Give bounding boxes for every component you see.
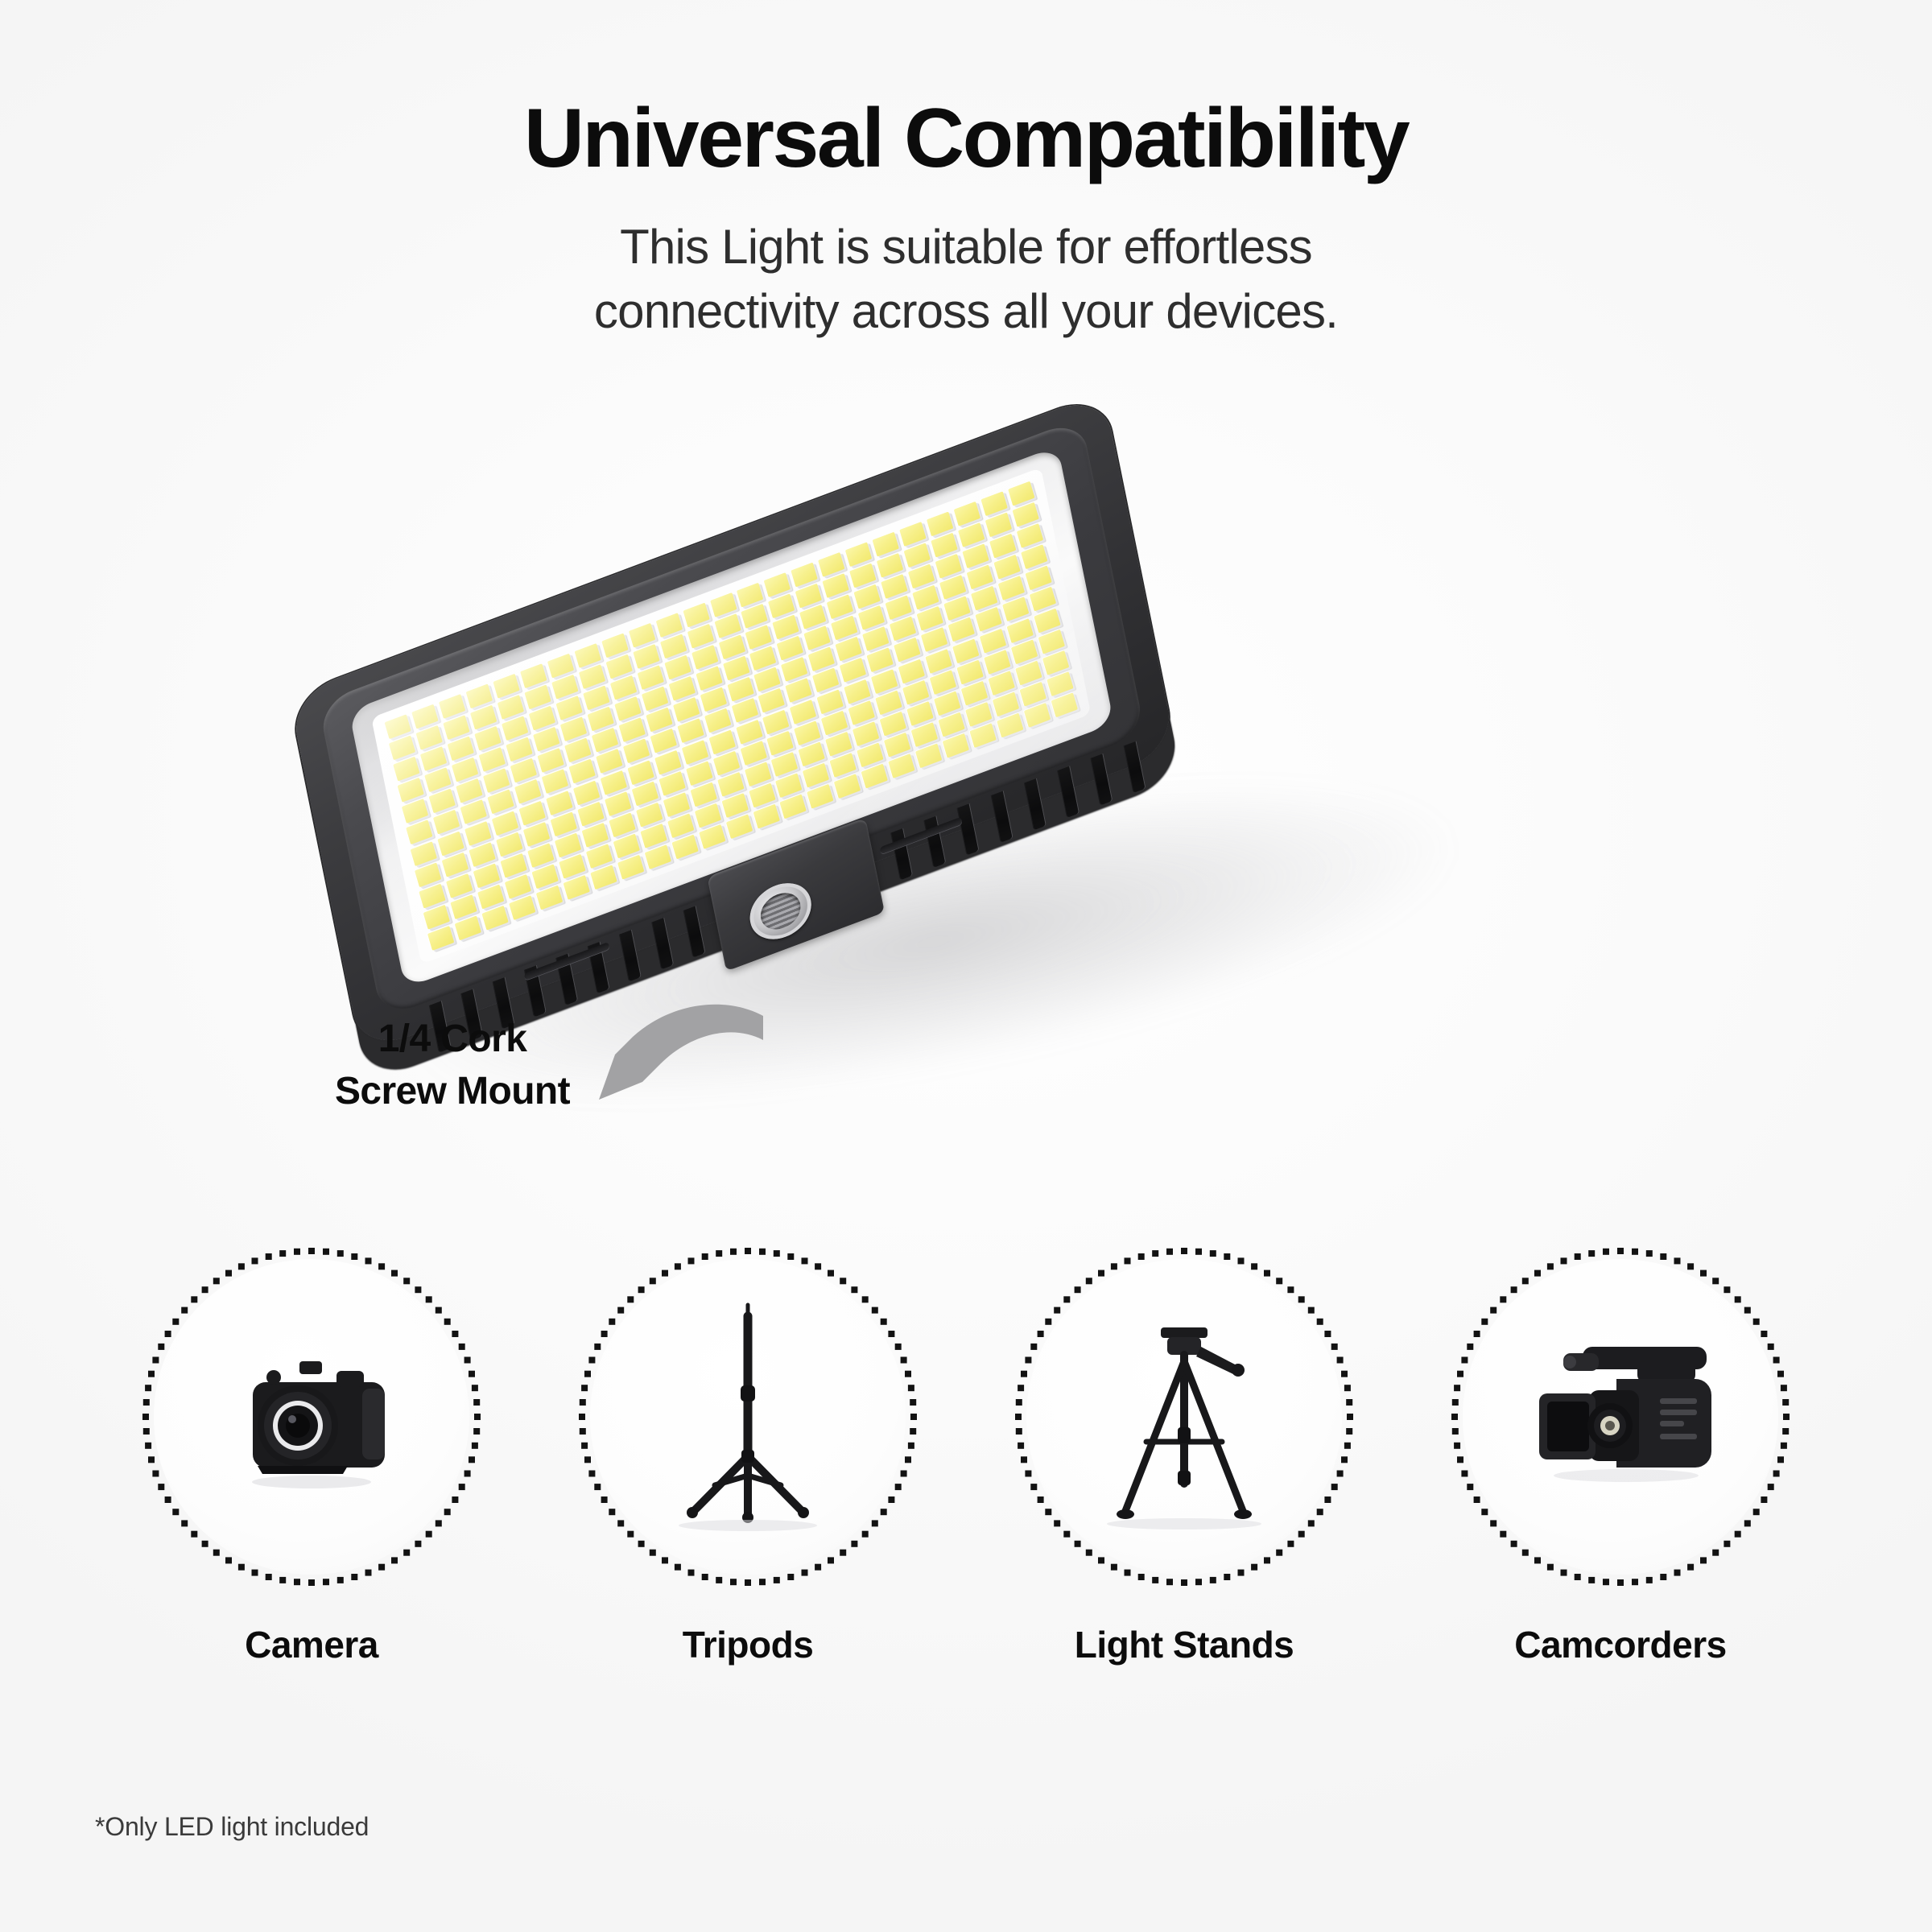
led-chip (1020, 682, 1046, 707)
led-chip (694, 803, 720, 828)
compatibility-row: Camera Tripods Lig (0, 1240, 1932, 1666)
led-chip (857, 742, 884, 767)
led-chip (899, 522, 926, 547)
led-chip (466, 683, 493, 708)
led-chip (915, 743, 942, 768)
compat-circle (134, 1240, 489, 1594)
led-chip (514, 779, 541, 804)
led-chip (764, 572, 791, 597)
led-chip (1007, 618, 1034, 643)
mount-callout-label: 1/4 Cork Screw Mount (283, 1013, 621, 1118)
led-chip (791, 562, 818, 587)
led-chip (867, 648, 894, 673)
led-chip (736, 720, 762, 745)
led-chip (636, 803, 663, 828)
led-chip (509, 895, 535, 920)
led-chip (952, 638, 979, 663)
header-block: Universal Compatibility This Light is su… (0, 95, 1932, 344)
led-chip (550, 811, 576, 836)
led-chip (980, 628, 1006, 653)
led-chip (812, 668, 839, 693)
led-chip (446, 873, 473, 898)
led-chip (493, 674, 519, 699)
led-chip (1008, 481, 1034, 506)
led-chip (536, 885, 563, 910)
compat-item-light-stands[interactable]: Light Stands (1003, 1240, 1365, 1666)
led-chip (894, 638, 921, 663)
led-chip (573, 780, 600, 805)
led-chip (654, 750, 681, 775)
led-chip (629, 623, 655, 648)
led-chip (527, 843, 554, 868)
led-chip (826, 731, 852, 756)
led-chip (455, 915, 481, 940)
led-chip (699, 824, 725, 849)
led-chip (957, 659, 984, 684)
led-chip (477, 884, 504, 909)
led-chip (880, 711, 906, 736)
led-chip (520, 663, 547, 688)
led-chip (794, 720, 820, 745)
led-chip (450, 894, 477, 919)
compat-art (1051, 1284, 1317, 1550)
led-chip (871, 669, 898, 694)
callout-line-2: Screw Mount (283, 1065, 621, 1117)
led-chip (737, 583, 763, 608)
led-chip (1011, 639, 1038, 664)
compat-label: Camera (245, 1623, 378, 1666)
led-chip (546, 791, 572, 815)
led-chip (803, 762, 829, 787)
led-chip (617, 855, 644, 880)
led-chip (1024, 703, 1051, 728)
led-chip (954, 502, 980, 526)
led-chip (492, 811, 518, 836)
led-chip (406, 820, 432, 845)
led-chip (442, 852, 469, 877)
curved-arrow-icon (583, 998, 768, 1127)
led-chip (898, 658, 925, 683)
led-chip (762, 709, 789, 734)
led-chip (861, 763, 888, 788)
led-chip (555, 832, 581, 857)
infographic-stage: Universal Compatibility This Light is su… (0, 0, 1932, 1932)
led-chip (1038, 629, 1065, 654)
led-chip (710, 592, 737, 617)
footnote-text: *Only LED light included (95, 1812, 369, 1842)
led-chip (830, 753, 857, 778)
led-chip (469, 842, 495, 867)
led-chip (671, 835, 698, 860)
led-chip (547, 654, 574, 679)
led-chip (433, 810, 460, 835)
led-chip (563, 875, 589, 900)
led-chip (415, 862, 441, 887)
led-chip (731, 698, 758, 723)
led-chip (807, 784, 833, 809)
led-chip (623, 739, 650, 764)
led-chip (644, 844, 671, 869)
led-chip (481, 906, 508, 931)
led-chip (930, 670, 956, 695)
led-chip (704, 708, 731, 733)
led-chip (419, 883, 445, 908)
led-chip (487, 790, 514, 815)
compat-label: Tripods (683, 1623, 814, 1666)
led-chip (821, 710, 848, 735)
led-chip (889, 753, 915, 778)
page-subtitle: This Light is suitable for effortless co… (0, 215, 1932, 344)
led-chip (590, 865, 617, 890)
product-image-led-light (266, 483, 1666, 1095)
light-stand-icon (615, 1284, 881, 1550)
led-chip (542, 770, 568, 795)
led-chip (683, 603, 709, 628)
compat-label: Camcorders (1514, 1623, 1726, 1666)
led-chip (725, 814, 752, 839)
led-chip (844, 679, 870, 704)
led-chip (775, 773, 802, 798)
led-chip (605, 791, 631, 816)
led-chip (712, 751, 739, 776)
led-chip (1034, 608, 1060, 633)
led-chip (640, 824, 667, 848)
led-chip (500, 853, 526, 878)
compat-art (615, 1284, 881, 1550)
led-chip (943, 733, 969, 758)
led-chip (767, 730, 794, 755)
led-chip (677, 719, 704, 744)
led-chip (686, 761, 712, 786)
led-chip (721, 793, 748, 818)
led-chip (780, 794, 807, 819)
led-chip (848, 700, 875, 725)
led-chip (631, 781, 658, 806)
led-chip (464, 821, 491, 846)
led-chip (961, 681, 988, 706)
subtitle-line-1: This Light is suitable for effortless (0, 215, 1932, 279)
led-chip (559, 854, 585, 879)
led-chip (976, 607, 1002, 632)
led-chip (581, 823, 608, 848)
video-tripod-icon (1051, 1284, 1317, 1550)
led-chip (460, 799, 487, 824)
led-chip (523, 822, 550, 847)
led-chip (531, 864, 558, 889)
led-chip (818, 552, 844, 577)
compat-art (1488, 1284, 1753, 1550)
dslr-camera-icon (179, 1284, 444, 1550)
compat-item-tripods[interactable]: Tripods (567, 1240, 929, 1666)
led-chip (876, 690, 902, 715)
led-chip (439, 694, 465, 719)
compat-art (179, 1284, 444, 1550)
camcorder-icon (1488, 1284, 1753, 1550)
compat-circle (1443, 1240, 1798, 1594)
led-chip (613, 834, 639, 859)
compat-circle (571, 1240, 925, 1594)
led-chip (840, 658, 866, 683)
led-chip (586, 844, 613, 869)
led-chip (758, 688, 785, 713)
led-chip (427, 926, 454, 951)
led-chip (921, 627, 947, 652)
compat-label: Light Stands (1075, 1623, 1294, 1666)
compat-item-camera[interactable]: Camera (130, 1240, 493, 1666)
led-chip (609, 812, 635, 837)
led-chip (934, 691, 960, 716)
screw-thread-socket-icon (745, 874, 816, 948)
led-chip (655, 613, 682, 638)
led-chip (650, 729, 676, 753)
led-chip (939, 712, 965, 737)
led-chip (568, 759, 595, 784)
led-chip (1002, 597, 1029, 622)
led-chip (981, 491, 1008, 516)
led-chip (884, 733, 910, 758)
led-chip (1046, 671, 1073, 696)
led-chip (411, 841, 437, 866)
callout-line-1: 1/4 Cork (283, 1013, 621, 1065)
led-chip (984, 650, 1010, 675)
led-chip (799, 741, 825, 766)
led-chip (596, 749, 622, 774)
led-chip (993, 691, 1019, 716)
compat-item-camcorders[interactable]: Camcorders (1439, 1240, 1802, 1666)
led-chip (708, 729, 735, 754)
led-chip (601, 634, 628, 658)
led-chip (911, 722, 938, 747)
led-chip (753, 804, 779, 829)
led-chip (1042, 650, 1069, 675)
led-chip (834, 774, 861, 799)
led-chip (667, 813, 694, 838)
led-chip (790, 700, 816, 724)
led-chip (926, 649, 952, 674)
led-chip (518, 800, 545, 825)
led-chip (965, 702, 992, 727)
led-chip (411, 704, 438, 729)
led-chip (681, 740, 708, 765)
led-chip (496, 832, 522, 857)
led-chip (574, 643, 601, 668)
led-chip (902, 679, 929, 704)
led-chip (997, 712, 1023, 737)
page-title: Universal Compatibility (0, 95, 1932, 183)
led-chip (989, 671, 1015, 696)
led-chip (852, 721, 879, 746)
led-chip (600, 770, 626, 795)
led-chip (717, 772, 744, 797)
led-chip (907, 701, 934, 726)
led-chip (1051, 692, 1078, 717)
led-chip (948, 617, 975, 642)
led-chip (505, 874, 531, 899)
led-chip (1015, 660, 1042, 685)
led-chip (873, 532, 899, 557)
led-chip (423, 905, 450, 930)
led-chip (927, 511, 953, 536)
led-chip (970, 723, 997, 748)
led-chip (845, 542, 872, 567)
led-chip (771, 752, 798, 777)
led-chip (627, 760, 654, 785)
led-chip (658, 771, 685, 796)
compat-circle (1007, 1240, 1361, 1594)
led-chip (817, 689, 844, 714)
led-chip (749, 783, 775, 808)
led-chip (473, 863, 500, 888)
led-chip (577, 802, 604, 827)
led-chip (385, 714, 411, 739)
led-chip (786, 678, 812, 703)
led-chip (690, 782, 716, 807)
led-chip (1030, 587, 1056, 612)
led-chip (740, 741, 766, 766)
subtitle-line-2: connectivity across all your devices. (0, 279, 1932, 344)
led-chip (437, 831, 464, 856)
led-chip (663, 792, 689, 817)
led-chip (744, 762, 770, 786)
